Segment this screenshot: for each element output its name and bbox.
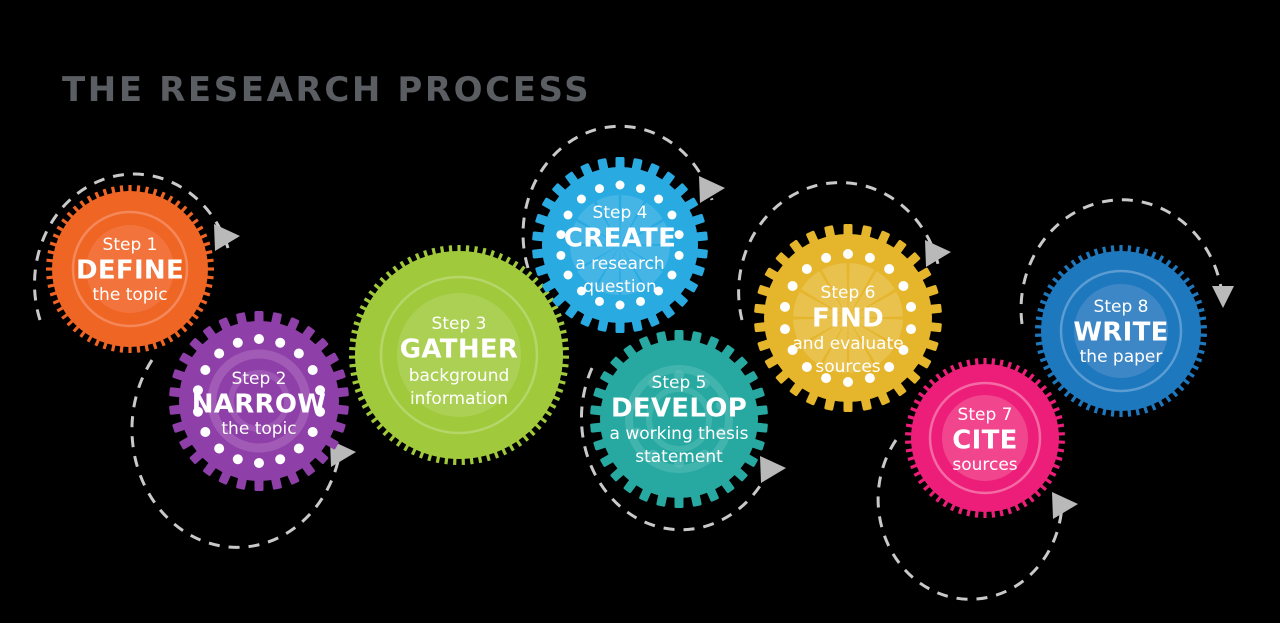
gear-action-7: CITE xyxy=(952,426,1017,456)
gear-detail-4b: question xyxy=(583,277,656,297)
gear-action-6: FIND xyxy=(812,304,884,334)
gear-action-5: DEVELOP xyxy=(611,394,747,424)
gear-action-3: GATHER xyxy=(400,335,519,365)
gear-step-4[interactable]: Step 4 CREATE a research question xyxy=(532,157,708,333)
gear-detail-2a: the topic xyxy=(221,419,296,439)
gear-detail-7a: sources xyxy=(952,455,1017,475)
gear-step-number-4: Step 4 xyxy=(593,203,648,223)
gear-step-number-3: Step 3 xyxy=(432,314,487,334)
gear-step-7[interactable]: Step 7 CITE sources xyxy=(905,358,1065,518)
gear-detail-1a: the topic xyxy=(92,285,167,305)
gear-detail-8a: the paper xyxy=(1080,347,1163,367)
gear-action-4: CREATE xyxy=(564,224,676,254)
gear-step-number-5: Step 5 xyxy=(652,373,707,393)
research-process-gear-diagram: Step 1 DEFINE the topic Step 2 NARROW th… xyxy=(0,0,1280,623)
gear-step-3[interactable]: Step 3 GATHER background information xyxy=(349,245,569,465)
gear-detail-4a: a research xyxy=(575,254,664,274)
gear-step-8[interactable]: Step 8 WRITE the paper xyxy=(1035,245,1207,417)
gear-action-1: DEFINE xyxy=(76,256,184,286)
gear-step-number-2: Step 2 xyxy=(232,369,287,389)
gear-step-number-8: Step 8 xyxy=(1094,297,1149,317)
gear-step-number-1: Step 1 xyxy=(103,235,158,255)
gear-detail-6a: and evaluate xyxy=(792,334,903,354)
gear-step-5[interactable]: Step 5 DEVELOP a working thesis statemen… xyxy=(590,330,768,508)
gear-detail-5a: a working thesis xyxy=(610,424,749,444)
gear-step-number-6: Step 6 xyxy=(821,283,876,303)
gear-action-2: NARROW xyxy=(192,390,327,420)
gear-detail-5b: statement xyxy=(635,447,723,467)
gear-action-8: WRITE xyxy=(1073,318,1168,348)
gear-step-2[interactable]: Step 2 NARROW the topic xyxy=(169,311,349,491)
gear-step-6[interactable]: Step 6 FIND and evaluate sources xyxy=(754,224,942,412)
infographic-canvas: THE RESEARCH PROCESS xyxy=(0,0,1280,623)
gear-detail-3b: information xyxy=(410,389,508,409)
gear-detail-6b: sources xyxy=(815,357,880,377)
gear-step-1[interactable]: Step 1 DEFINE the topic xyxy=(46,185,214,353)
gear-detail-3a: background xyxy=(409,366,510,386)
gear-step-number-7: Step 7 xyxy=(958,405,1013,425)
